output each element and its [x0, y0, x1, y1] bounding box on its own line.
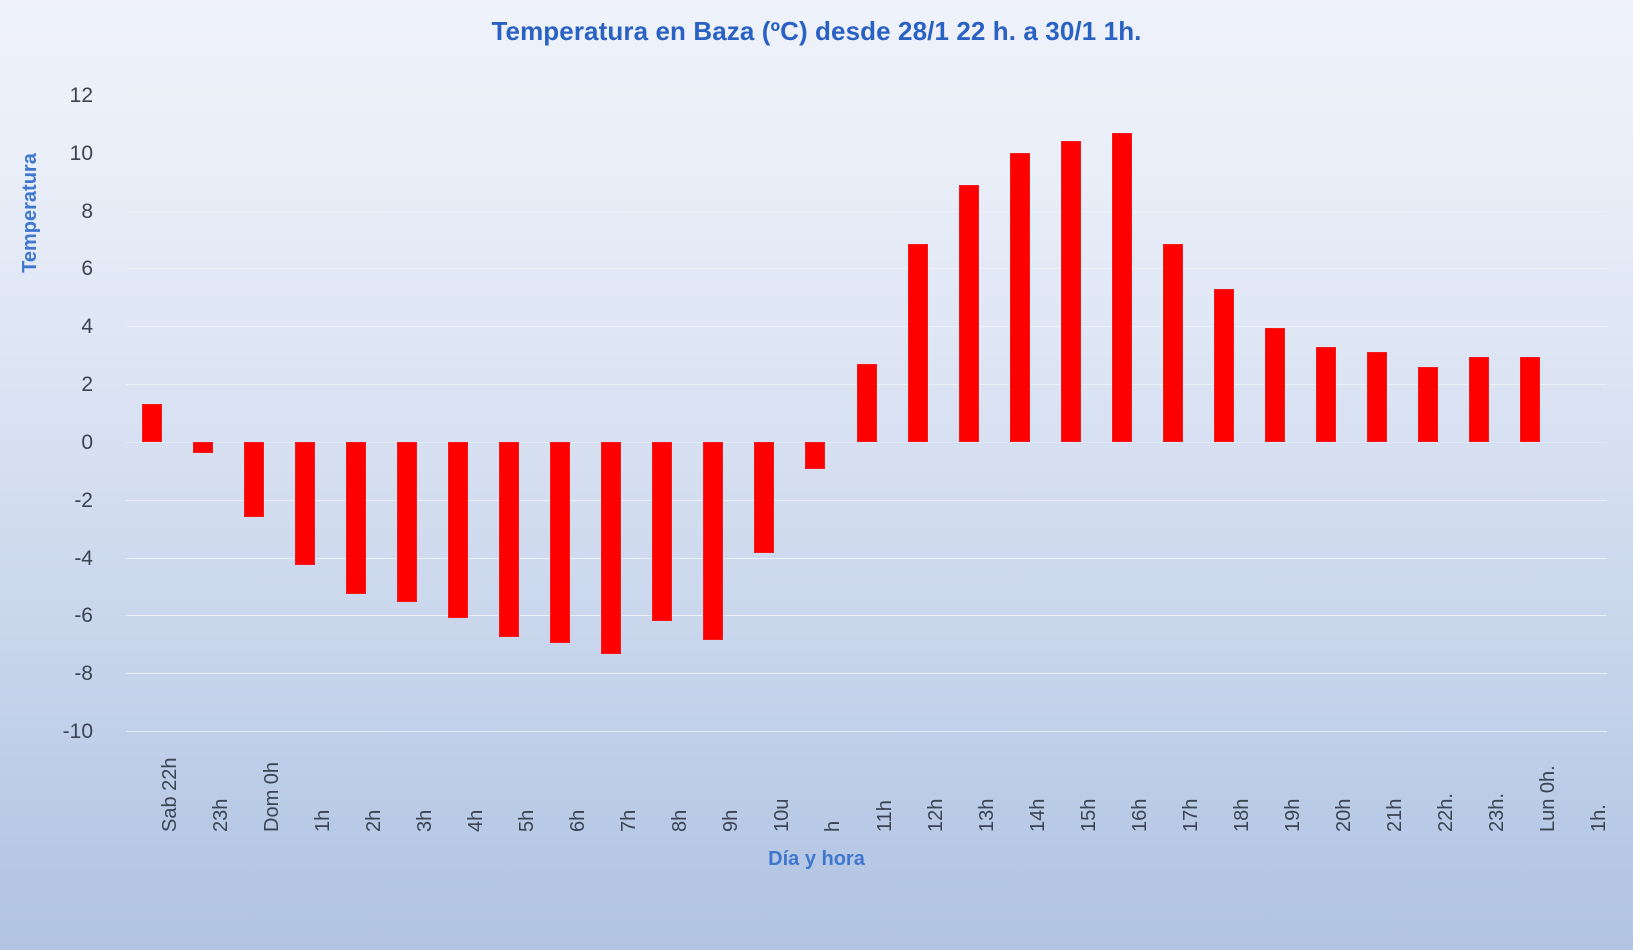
x-tick-label: 18h	[1232, 799, 1252, 832]
x-tick-label: h	[823, 821, 843, 832]
x-tick-label: 17h	[1181, 799, 1201, 832]
bar[interactable]	[499, 442, 519, 637]
bar[interactable]	[652, 442, 672, 621]
x-tick-label: 1h.	[1589, 804, 1609, 832]
gridline-12	[126, 95, 1607, 96]
x-tick-label: 16h	[1130, 799, 1150, 832]
bar[interactable]	[550, 442, 570, 643]
x-tick-label: 20h	[1334, 799, 1354, 832]
x-tick-label: Lun 0h.	[1538, 765, 1558, 832]
x-tick-label: 5h	[517, 810, 537, 832]
x-tick-label: 6h	[568, 810, 588, 832]
bar[interactable]	[805, 442, 825, 469]
bar[interactable]	[908, 244, 928, 442]
x-tick-label: 3h	[415, 810, 435, 832]
x-tick-label: 14h	[1028, 799, 1048, 832]
gridline--8	[126, 673, 1607, 674]
y-tick-label: -4	[23, 548, 93, 569]
x-axis-title: Día y hora	[0, 848, 1633, 871]
bar[interactable]	[1367, 352, 1387, 442]
y-tick-label: -6	[23, 605, 93, 626]
bar[interactable]	[1265, 328, 1285, 442]
bar[interactable]	[346, 442, 366, 594]
gridline-6	[126, 268, 1607, 269]
x-tick-label: Sab 22h	[160, 757, 180, 832]
gridline-4	[126, 326, 1607, 327]
x-tick-label: 10u	[772, 799, 792, 832]
x-tick-label: 23h	[211, 799, 231, 832]
x-tick-label: 21h	[1385, 799, 1405, 832]
bar[interactable]	[1061, 141, 1081, 442]
bar[interactable]	[703, 442, 723, 640]
x-tick-label: 23h.	[1487, 793, 1507, 832]
bar[interactable]	[959, 185, 979, 442]
y-tick-label: -10	[23, 721, 93, 742]
bar[interactable]	[295, 442, 315, 565]
x-tick-label: 11h	[875, 800, 895, 832]
bar[interactable]	[1010, 153, 1030, 442]
bar[interactable]	[193, 442, 213, 454]
x-tick-label: 15h	[1079, 799, 1099, 832]
y-tick-label: 4	[23, 316, 93, 337]
bar[interactable]	[1112, 133, 1132, 442]
bar[interactable]	[142, 404, 162, 442]
x-tick-label: 2h	[364, 810, 384, 832]
bar[interactable]	[448, 442, 468, 618]
x-tick-label: 9h	[721, 810, 741, 832]
chart-title: Temperatura en Baza (ºC) desde 28/1 22 h…	[0, 16, 1633, 47]
y-tick-label: 2	[23, 374, 93, 395]
y-tick-label: 8	[23, 201, 93, 222]
bar[interactable]	[601, 442, 621, 654]
x-tick-label: 1h	[313, 810, 333, 832]
y-tick-label: 12	[23, 85, 93, 106]
y-tick-label: 10	[23, 143, 93, 164]
x-tick-label: Dom 0h	[262, 762, 282, 832]
y-tick-label: -2	[23, 490, 93, 511]
bar[interactable]	[1469, 357, 1489, 442]
bar[interactable]	[857, 364, 877, 442]
x-tick-label: 8h	[670, 810, 690, 832]
y-tick-label: 6	[23, 258, 93, 279]
gridline--6	[126, 615, 1607, 616]
chart-container: Temperatura en Baza (ºC) desde 28/1 22 h…	[0, 0, 1633, 950]
y-tick-label: -8	[23, 663, 93, 684]
x-tick-label: 19h	[1283, 799, 1303, 832]
bar[interactable]	[397, 442, 417, 602]
bar[interactable]	[1163, 244, 1183, 442]
bar[interactable]	[244, 442, 264, 517]
gridline-8	[126, 211, 1607, 212]
x-tick-label: 22h.	[1436, 793, 1456, 832]
bar[interactable]	[1418, 367, 1438, 442]
x-tick-label: 7h	[619, 810, 639, 832]
y-tick-label: 0	[23, 432, 93, 453]
x-tick-label: 13h	[977, 799, 997, 832]
gridline-10	[126, 153, 1607, 154]
x-axis-line	[126, 731, 1607, 732]
plot-area: 121086420-2-4-6-8-10	[126, 95, 1607, 731]
bar[interactable]	[1520, 357, 1540, 442]
x-tick-label: 12h	[926, 799, 946, 832]
bar[interactable]	[1214, 289, 1234, 442]
bar[interactable]	[1316, 347, 1336, 442]
bar[interactable]	[754, 442, 774, 553]
x-tick-label: 4h	[466, 810, 486, 832]
